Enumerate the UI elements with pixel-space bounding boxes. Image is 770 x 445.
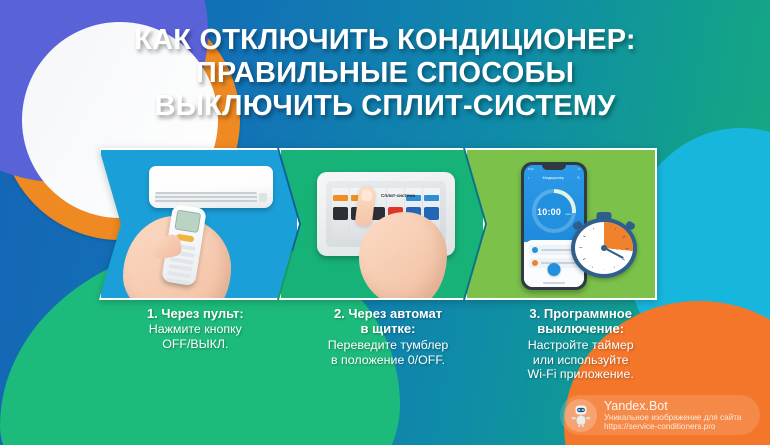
caption-body: Настройте таймерили используйтеWi-Fi при… [490,338,671,383]
caption-title: 1. Через пульт: [105,306,286,321]
breaker-label: Сплит-система [381,193,415,198]
stopwatch-center-pin [601,245,607,251]
caption-title: 3. Программноевыключение: [490,306,671,337]
app-nav-row: ‹ Кондиционер ✎ [528,174,580,181]
caption-body: Нажмите кнопкуOFF/ВЫКЛ. [105,322,286,352]
watermark-badge: Yandex.Bot Уникальное изображение для са… [560,395,760,435]
status-signal: ..ıl [577,167,580,171]
hand-illustration [359,212,447,300]
title-line-2: ПРАВИЛЬНЫЕ СПОСОБЫ [52,57,718,90]
remote-screen [174,210,201,234]
title-line-3: ВЫКЛЮЧИТЬ СПЛИТ-СИСТЕМУ [52,90,718,123]
list-item-icon [532,247,538,253]
panel-remote [99,148,299,300]
caption-app: 3. Программноевыключение: Настройте тайм… [484,306,677,382]
timer-readout: 10:00 мин [537,202,571,220]
title-line-1: КАК ОТКЛЮЧИТЬ КОНДИЦИОНЕР: [52,24,718,57]
panel-app: 9:41 ..ıl ‹ Кондиционер ✎ 10:00 мин [465,148,657,300]
stopwatch-dial [571,218,637,278]
home-indicator [543,282,565,284]
panel-strip: Сплит-система 9:41 ..ıl [99,148,677,300]
power-button[interactable] [548,263,561,276]
watermark-subtitle: Уникальное изображение для сайта [604,413,741,422]
air-conditioner-icon [149,166,273,208]
caption-breaker: 2. Через автоматв щитке: Переведите тумб… [292,306,485,382]
fingernail [361,188,373,201]
phone-notch [542,165,566,170]
robot-icon [570,404,591,427]
list-item-icon [532,260,538,266]
avatar [564,399,597,432]
watermark-url[interactable]: https://service-conditioners.pro [604,422,741,431]
status-time: 9:41 [528,167,534,171]
poster-canvas: КАК ОТКЛЮЧИТЬ КОНДИЦИОНЕР: ПРАВИЛЬНЫЕ СП… [0,0,770,445]
page-title: КАК ОТКЛЮЧИТЬ КОНДИЦИОНЕР: ПРАВИЛЬНЫЕ СП… [0,24,770,123]
breaker-1 [332,188,349,240]
ac-vent-icon [259,193,267,202]
edit-icon[interactable]: ✎ [577,176,580,180]
back-chevron-icon[interactable]: ‹ [528,176,529,180]
app-nav-title: Кондиционер [543,176,564,180]
watermark-title: Yandex.Bot [604,399,741,413]
caption-body: Переведите тумблерв положение 0/OFF. [298,338,479,368]
watermark-text: Yandex.Bot Уникальное изображение для са… [604,399,741,432]
timer-value: 10:00 [537,207,561,217]
stopwatch-icon [571,212,637,278]
timer-progress-ring: 10:00 мин [532,189,576,233]
caption-row: 1. Через пульт: Нажмите кнопкуOFF/ВЫКЛ. … [99,306,677,382]
caption-title: 2. Через автоматв щитке: [298,306,479,337]
caption-remote: 1. Через пульт: Нажмите кнопкуOFF/ВЫКЛ. [99,306,292,382]
panel-breaker: Сплит-система [279,148,485,300]
